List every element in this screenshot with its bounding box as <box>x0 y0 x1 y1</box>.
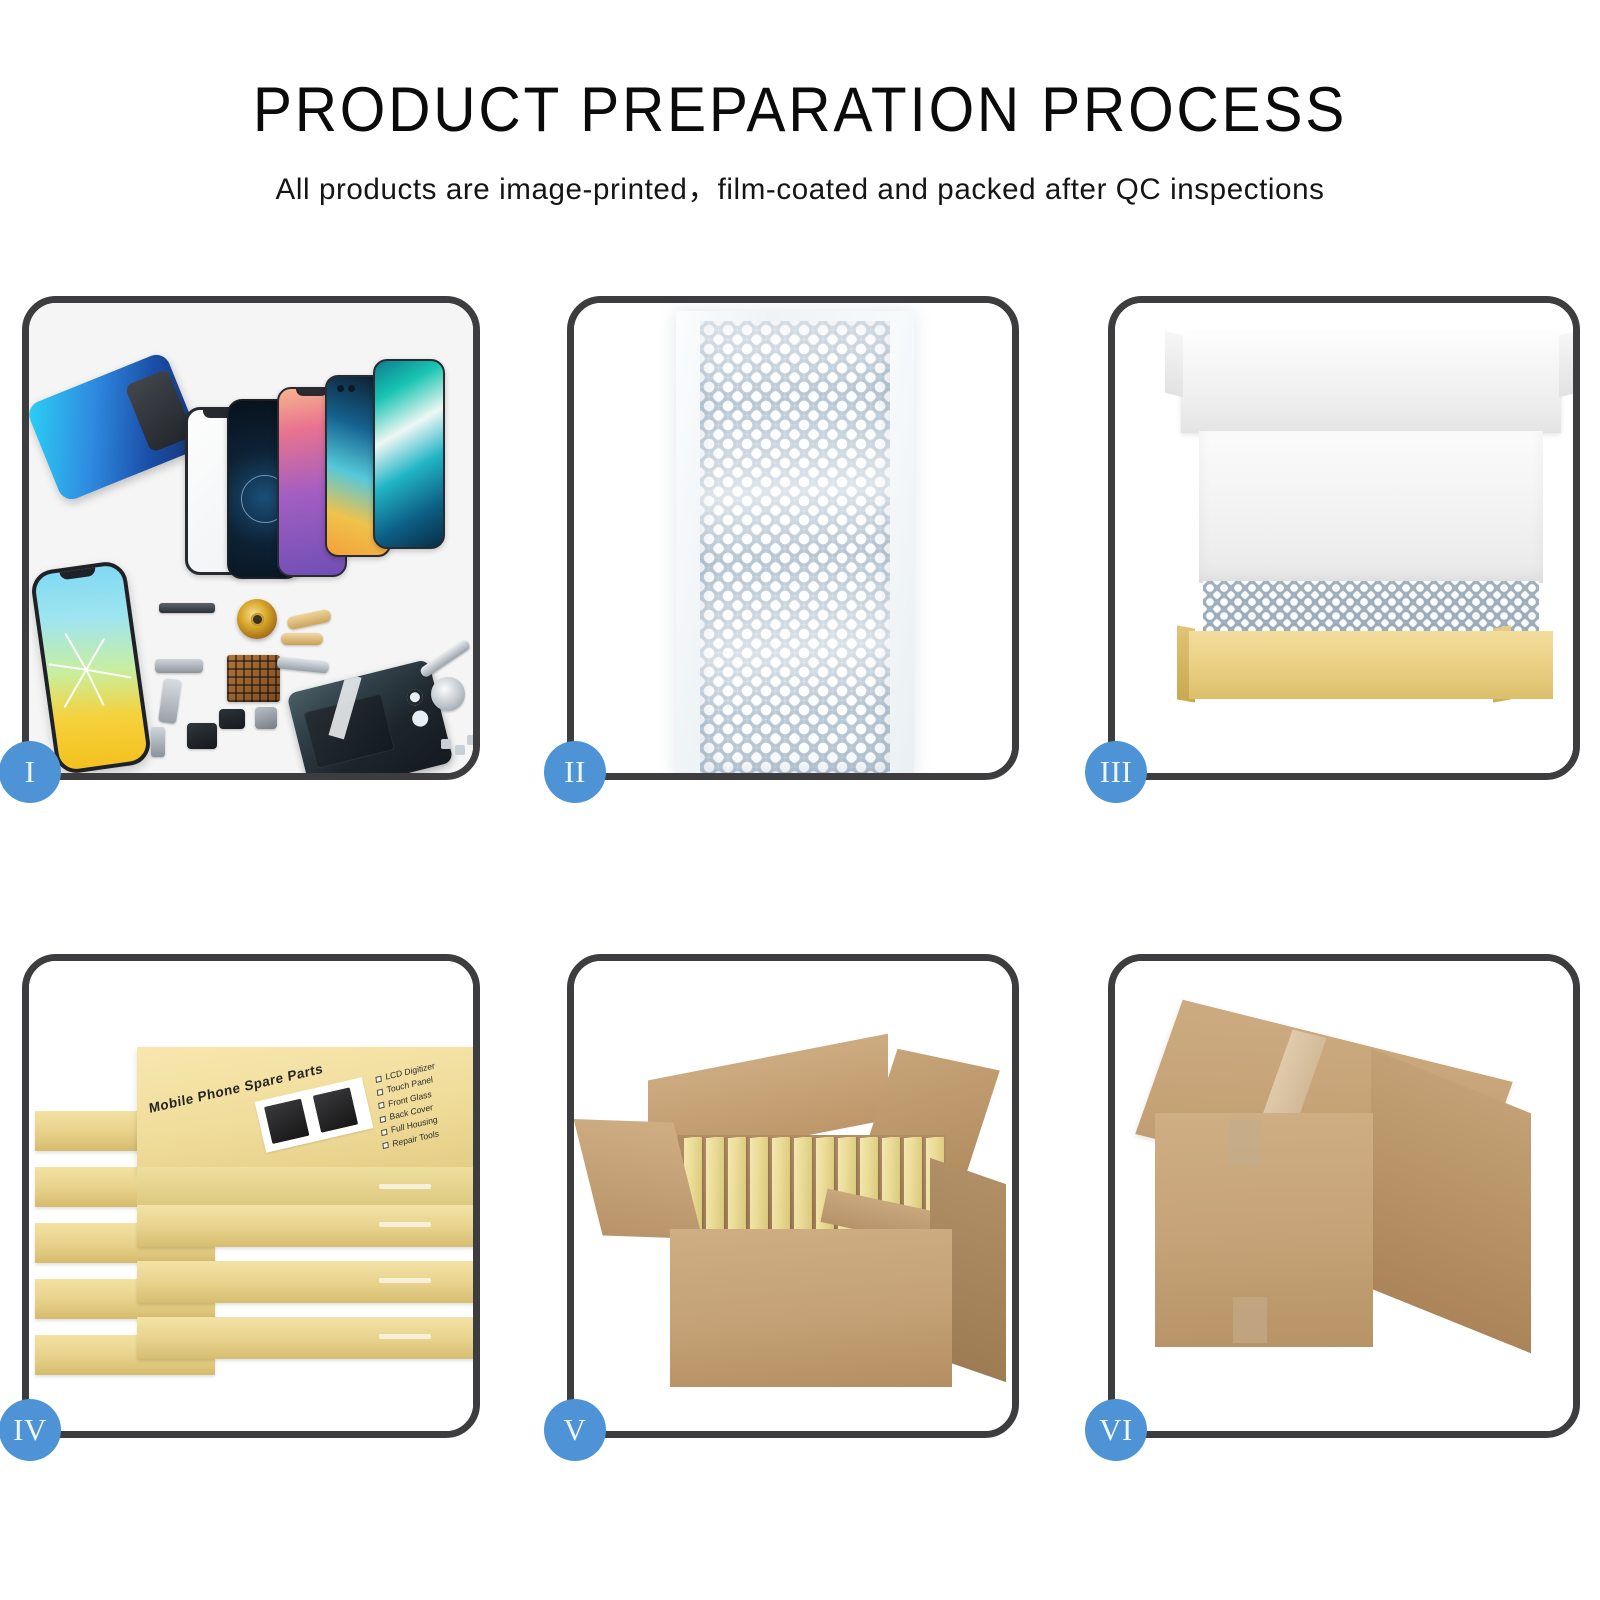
step-2-image <box>574 303 1012 773</box>
gold-box <box>706 1137 724 1243</box>
checkbox-icon <box>380 1115 386 1122</box>
open-carton-scene <box>574 961 1012 1431</box>
repair-tweezers-icon <box>419 638 472 678</box>
checkbox-icon <box>378 1102 384 1109</box>
header: PRODUCT PREPARATION PROCESS All products… <box>0 78 1600 208</box>
steps-grid: I II <box>22 296 1580 1418</box>
sealed-carton-scene <box>1115 961 1573 1431</box>
checkbox-icon <box>382 1142 388 1149</box>
step-5-image <box>574 961 1012 1431</box>
step-badge-2: II <box>544 741 606 803</box>
stacked-box <box>137 1261 473 1303</box>
step-panel-6: VI <box>1108 954 1580 1438</box>
retail-box-window <box>255 1077 374 1152</box>
stacked-box <box>137 1317 473 1359</box>
top-box-side <box>137 1167 473 1207</box>
step-4-image: Mobile Phone Spare Parts LCD Digitizer T… <box>29 961 473 1431</box>
loudspeaker-module <box>255 707 277 729</box>
stacked-box <box>137 1205 473 1247</box>
stacked-boxes-scene: Mobile Phone Spare Parts LCD Digitizer T… <box>29 961 473 1431</box>
checkbox-icon <box>377 1089 383 1096</box>
box-front-panel <box>1189 631 1553 699</box>
page-subtitle: All products are image-printed，film-coat… <box>12 164 1588 208</box>
ic-chip <box>227 655 280 702</box>
gold-box <box>794 1137 812 1243</box>
bubble-wrap-scene <box>574 303 1012 773</box>
step-badge-4: IV <box>0 1399 61 1461</box>
right-box-stack: Mobile Phone Spare Parts LCD Digitizer T… <box>137 1047 473 1387</box>
earpiece-speaker-mesh <box>159 603 215 613</box>
step-badge-6: VI <box>1085 1399 1147 1461</box>
rear-camera-module <box>219 709 245 729</box>
step-panel-5: V <box>567 954 1019 1438</box>
step-badge-1: I <box>0 741 61 803</box>
checkbox-icon <box>375 1075 381 1082</box>
bubble-wrap-sheet <box>700 321 890 773</box>
box-lid <box>1181 333 1561 433</box>
phone-parts-scene <box>29 303 473 773</box>
blue-adhesive-frame <box>29 351 203 504</box>
broken-screen-phone <box>29 559 153 773</box>
gold-box <box>772 1137 790 1243</box>
flex-cable-4 <box>281 633 323 645</box>
teal-gradient-phone <box>373 359 445 549</box>
step-panel-1: I <box>22 296 480 780</box>
bubble-wrapped-item-in-box <box>1203 581 1539 633</box>
flex-cable-1 <box>155 659 203 673</box>
step-panel-4: Mobile Phone Spare Parts LCD Digitizer T… <box>22 954 480 1438</box>
phone-thumbnail <box>310 1085 360 1135</box>
step-panel-2: II <box>567 296 1019 780</box>
retail-box-open-scene <box>1115 303 1573 773</box>
power-button-flex <box>277 656 330 673</box>
retail-box-checklist: LCD Digitizer Touch Panel Front Glass Ba… <box>375 1059 442 1153</box>
screws <box>441 739 451 749</box>
box-inner-wall <box>1199 431 1543 583</box>
top-retail-box: Mobile Phone Spare Parts LCD Digitizer T… <box>137 1047 473 1173</box>
step-badge-3: III <box>1085 741 1147 803</box>
flex-cable-2 <box>158 678 182 724</box>
step-3-image <box>1115 303 1573 773</box>
step-6-image <box>1115 961 1573 1431</box>
box-tab <box>379 1184 431 1189</box>
flex-cable-3 <box>286 609 332 631</box>
box-tab <box>379 1222 431 1227</box>
phone-thumbnail <box>262 1096 312 1146</box>
punch-hole-camera-icon <box>337 385 344 392</box>
taptic-engine <box>187 723 217 749</box>
camera-lens-icon <box>405 688 424 707</box>
box-tab <box>379 1334 431 1339</box>
carton-seam-tape-top <box>1229 1119 1261 1165</box>
wireless-charging-coil <box>237 599 277 639</box>
step-badge-5: V <box>544 1399 606 1461</box>
carton-seam-tape-bottom <box>1233 1297 1267 1343</box>
step-1-image <box>29 303 473 773</box>
product-preparation-infographic: PRODUCT PREPARATION PROCESS All products… <box>0 0 1600 1600</box>
checkbox-icon <box>381 1129 387 1136</box>
step-panel-3: III <box>1108 296 1580 780</box>
cleaning-brush-icon <box>431 677 465 711</box>
gold-box <box>750 1137 768 1243</box>
page-title: PRODUCT PREPARATION PROCESS <box>56 78 1544 144</box>
gold-box <box>728 1137 746 1243</box>
carton-front-side <box>670 1229 952 1387</box>
box-tab <box>379 1278 431 1283</box>
sim-card-tray <box>151 727 165 757</box>
